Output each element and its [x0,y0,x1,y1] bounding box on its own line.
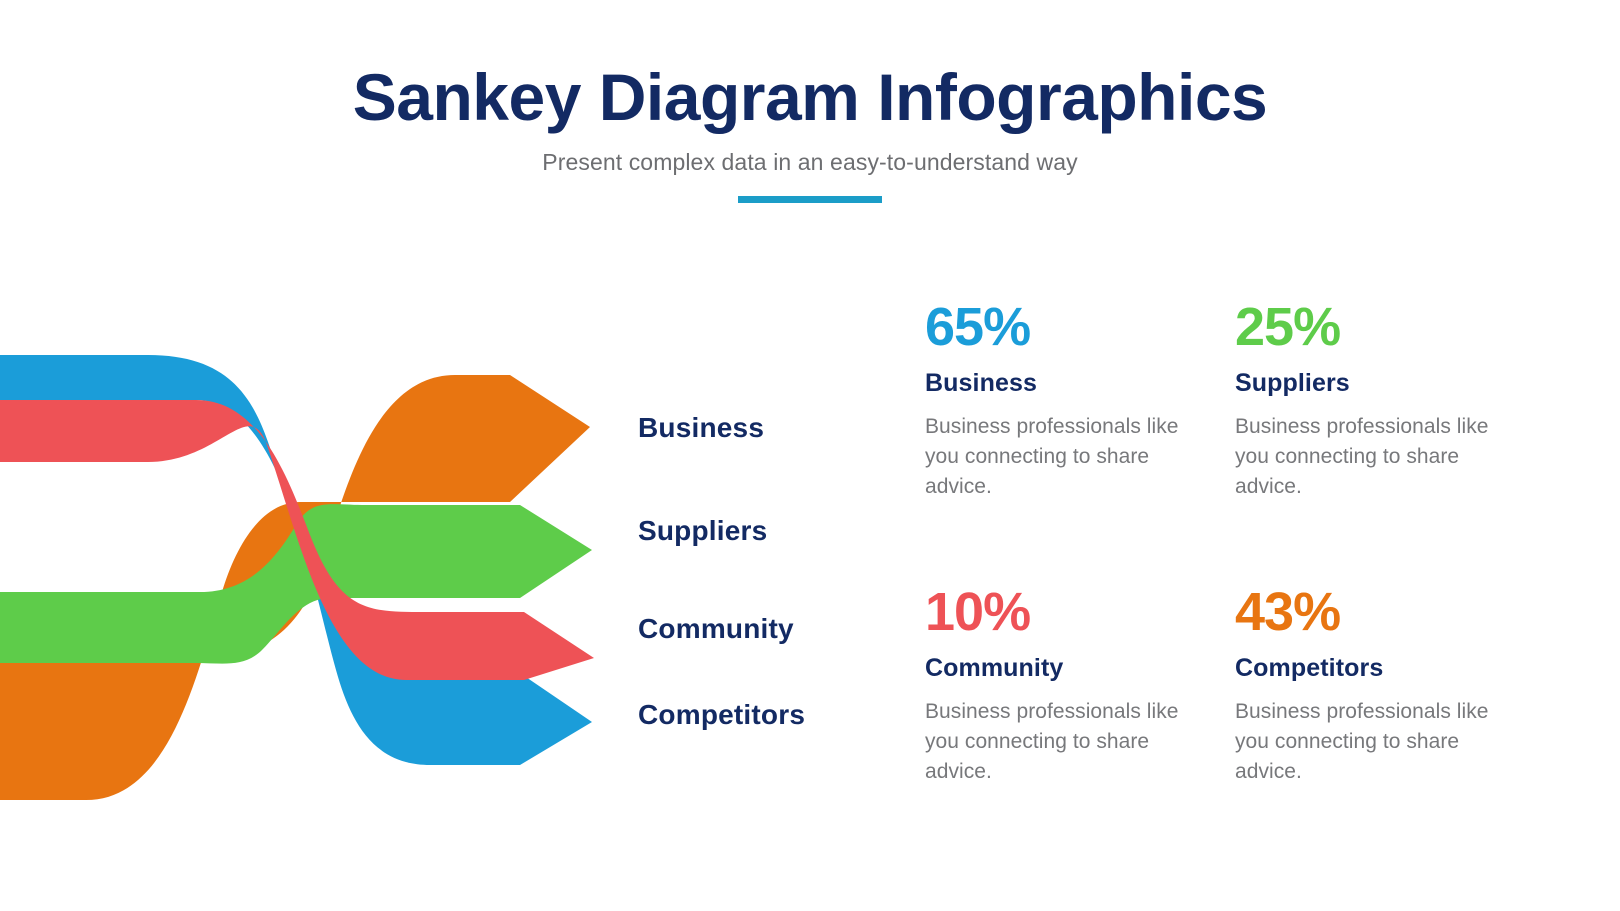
stat-description-community: Business professionals like you connecti… [925,697,1185,786]
page-title: Sankey Diagram Infographics [0,62,1620,133]
stat-title-suppliers: Suppliers [1235,369,1495,398]
sankey-node-label-community: Community [638,613,794,645]
stat-title-community: Community [925,654,1185,683]
stat-description-suppliers: Business professionals like you connecti… [1235,412,1495,501]
sankey-node-label-business: Business [638,412,764,444]
sankey-node-label-suppliers: Suppliers [638,515,767,547]
stat-description-competitors: Business professionals like you connecti… [1235,697,1495,786]
stat-card-business: 65% Business Business professionals like… [925,300,1185,501]
stat-title-business: Business [925,369,1185,398]
sankey-node-label-competitors: Competitors [638,699,805,731]
stat-title-competitors: Competitors [1235,654,1495,683]
stat-card-competitors: 43% Competitors Business professionals l… [1235,585,1495,786]
title-divider [738,196,882,203]
slide-canvas: Sankey Diagram Infographics Present comp… [0,0,1620,911]
stats-grid: 65% Business Business professionals like… [925,300,1545,830]
stat-description-business: Business professionals like you connecti… [925,412,1185,501]
sankey-node-labels: Business Suppliers Community Competitors [638,330,888,810]
header: Sankey Diagram Infographics Present comp… [0,62,1620,203]
stat-percent-suppliers: 25% [1235,300,1495,354]
stat-percent-community: 10% [925,585,1185,639]
stat-percent-business: 65% [925,300,1185,354]
stat-card-community: 10% Community Business professionals lik… [925,585,1185,786]
stat-card-suppliers: 25% Suppliers Business professionals lik… [1235,300,1495,501]
stat-percent-competitors: 43% [1235,585,1495,639]
page-subtitle: Present complex data in an easy-to-under… [0,149,1620,176]
sankey-diagram [0,330,620,810]
